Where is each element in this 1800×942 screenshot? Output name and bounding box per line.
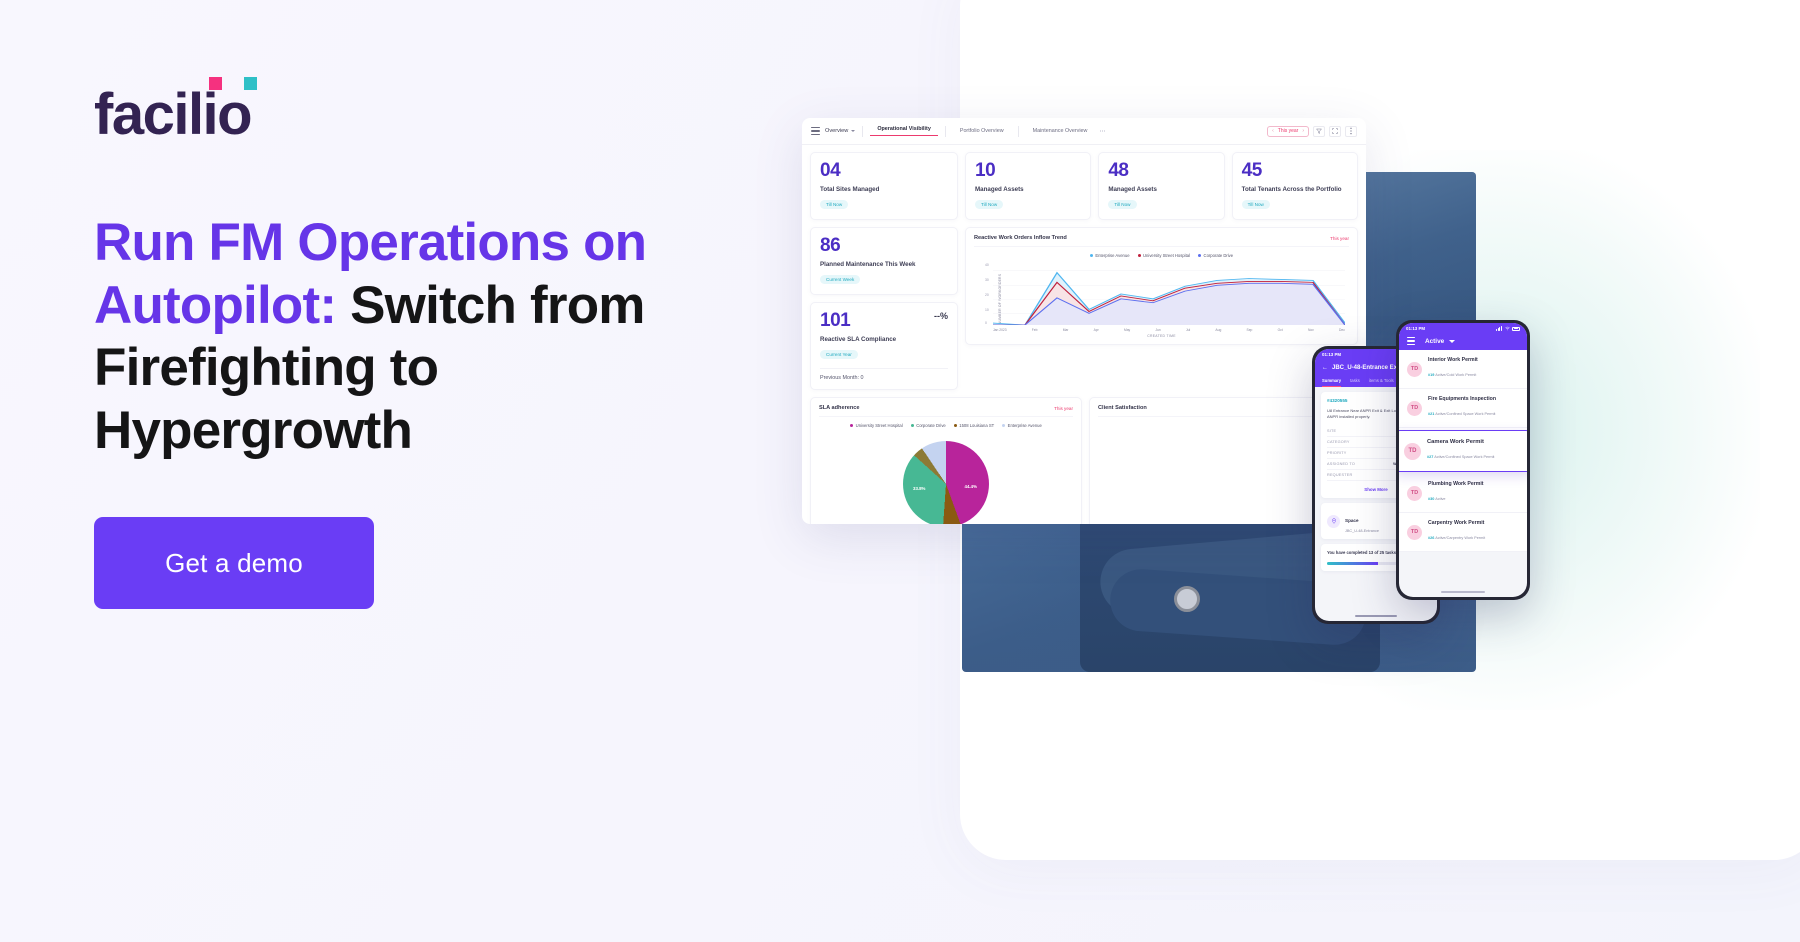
vertical-dots-icon[interactable] bbox=[1345, 126, 1357, 137]
permit-status: Active/Cold Work Permit bbox=[1435, 373, 1476, 377]
legend-item: Enterprise Avenue bbox=[1090, 253, 1130, 258]
location-pin-icon bbox=[1327, 515, 1340, 528]
chart-series-area bbox=[993, 263, 1345, 325]
chart-header: Reactive Work Orders Inflow Trend This y… bbox=[974, 235, 1349, 247]
toolbar-right-group: ‹ This year › bbox=[1267, 126, 1357, 137]
y-tick: 20 bbox=[985, 293, 989, 297]
permit-toolbar: Active bbox=[1399, 334, 1527, 350]
status-time: 01:13 PM bbox=[1322, 352, 1341, 357]
x-tick: Dec bbox=[1339, 328, 1345, 332]
list-item-text: Plumbing Work Permit #30 Active bbox=[1428, 481, 1484, 505]
get-a-demo-button[interactable]: Get a demo bbox=[94, 517, 374, 609]
list-item-text: Camera Work Permit #27 Active/Confined S… bbox=[1427, 439, 1495, 463]
dashboard-body: 04 Total Sites Managed Till Now 86 Plann… bbox=[802, 145, 1366, 397]
photo-wristwatch bbox=[1174, 586, 1200, 612]
pie-chart-area: 44.4% 33.8% bbox=[819, 428, 1073, 524]
dashboard-window: Overview Operational Visibility Portfoli… bbox=[802, 118, 1366, 524]
kpi-value-row: 101 --% bbox=[820, 311, 948, 330]
back-arrow-icon[interactable]: ← bbox=[1322, 364, 1328, 372]
x-axis-labels: Jan 2023 Feb Mar Apr May Jun Jul Aug Sep… bbox=[993, 328, 1345, 332]
permit-list: TD Interior Work Permit #19 Active/Cold … bbox=[1399, 350, 1527, 552]
battery-icon bbox=[1512, 327, 1520, 331]
list-item-text: Interior Work Permit #19 Active/Cold Wor… bbox=[1428, 357, 1478, 381]
field-key: CATEGORY bbox=[1327, 440, 1350, 444]
tab-summary[interactable]: Summary bbox=[1322, 378, 1341, 387]
kpi-label: Total Tenants Across the Portfolio bbox=[1242, 186, 1348, 193]
page-title: Run FM Operations on Autopilot: Switch f… bbox=[94, 212, 654, 462]
x-tick: Jun bbox=[1155, 328, 1160, 332]
legend-swatch bbox=[954, 424, 957, 427]
overview-dropdown[interactable]: Overview bbox=[825, 128, 855, 134]
kpi-card-total-tenants[interactable]: 45 Total Tenants Across the Portfolio Ti… bbox=[1232, 152, 1358, 220]
legend-label: University Street Hospital bbox=[1143, 253, 1190, 258]
permit-id: #27 bbox=[1427, 455, 1433, 459]
x-tick: May bbox=[1124, 328, 1130, 332]
funnel-icon[interactable] bbox=[1313, 126, 1325, 137]
chart-legend: Enterprise Avenue University Street Hosp… bbox=[974, 253, 1349, 258]
permit-title: Plumbing Work Permit bbox=[1428, 481, 1484, 487]
list-item-text: Fire Equipments Inspection #21 Active/Co… bbox=[1428, 396, 1496, 420]
field-key: SITE bbox=[1327, 429, 1336, 433]
kpi-card-total-sites[interactable]: 04 Total Sites Managed Till Now bbox=[810, 152, 958, 220]
y-tick: 0 bbox=[985, 321, 987, 325]
reactive-work-orders-chart[interactable]: Reactive Work Orders Inflow Trend This y… bbox=[965, 227, 1358, 345]
kpi-badge: Till Now bbox=[975, 200, 1003, 209]
avatar: TD bbox=[1407, 362, 1422, 377]
x-tick: Nov bbox=[1308, 328, 1314, 332]
kpi-percent: --% bbox=[934, 311, 948, 321]
status-bar: 01:13 PM bbox=[1399, 323, 1527, 334]
signal-icon bbox=[1496, 326, 1502, 331]
hamburger-icon[interactable] bbox=[811, 127, 820, 135]
sla-adherence-chart[interactable]: SLA adherence This year University Stree… bbox=[810, 397, 1082, 524]
dashboard-left-column: 04 Total Sites Managed Till Now 86 Plann… bbox=[810, 152, 958, 390]
x-tick: Aug bbox=[1215, 328, 1221, 332]
avatar: TD bbox=[1407, 486, 1422, 501]
x-axis-label: CREATED TIME bbox=[974, 334, 1349, 338]
permit-id: #19 bbox=[1428, 373, 1434, 377]
permit-id: #26 bbox=[1428, 536, 1434, 540]
field-key: REQUESTER bbox=[1327, 473, 1352, 477]
logo-wordmark: facilio bbox=[94, 86, 251, 144]
tab-portfolio-overview[interactable]: Portfolio Overview bbox=[953, 128, 1011, 134]
hamburger-icon[interactable] bbox=[1407, 337, 1415, 345]
kpi-label: Managed Assets bbox=[975, 186, 1081, 193]
chart-title: SLA adherence bbox=[819, 405, 860, 411]
legend-swatch bbox=[1198, 254, 1201, 257]
dashboard-toolbar: Overview Operational Visibility Portfoli… bbox=[802, 118, 1366, 145]
logo-teal-square-icon bbox=[244, 77, 257, 90]
dashboard-lower-body: SLA adherence This year University Stree… bbox=[802, 397, 1366, 524]
permit-id: #30 bbox=[1428, 497, 1434, 501]
kpi-badge: Till Now bbox=[820, 200, 848, 209]
kpi-badge: Till Now bbox=[1108, 200, 1136, 209]
pie-chart: 44.4% 33.8% bbox=[903, 441, 989, 524]
permit-meta: #30 Active bbox=[1428, 497, 1446, 501]
kpi-value: 04 bbox=[820, 161, 948, 180]
avatar: TD bbox=[1407, 525, 1422, 540]
chart-range-label[interactable]: This year bbox=[1330, 236, 1349, 241]
field-key: PRIORITY bbox=[1327, 451, 1347, 455]
mobile-permit-list: 01:13 PM Active TD Interior Work Permit … bbox=[1396, 320, 1530, 600]
field-key: ASSIGNED TO bbox=[1327, 462, 1355, 466]
chevron-down-icon[interactable] bbox=[1449, 340, 1455, 343]
divider bbox=[862, 126, 863, 137]
space-card-text: Space JBC_U-48-Entrance bbox=[1345, 509, 1379, 533]
tab-operational-visibility[interactable]: Operational Visibility bbox=[870, 126, 938, 136]
facilio-logo[interactable]: facilio bbox=[94, 84, 251, 144]
avatar: TD bbox=[1404, 443, 1421, 460]
avatar: TD bbox=[1407, 401, 1422, 416]
kpi-badge: Till Now bbox=[1242, 200, 1270, 209]
kpi-value: 101 bbox=[820, 311, 850, 330]
permit-status: Active/Carpentry Work Permit bbox=[1435, 536, 1485, 540]
list-item-selected[interactable]: TD Camera Work Permit #27 Active/Confine… bbox=[1399, 430, 1527, 472]
legend-swatch bbox=[1138, 254, 1141, 257]
kpi-value: 45 bbox=[1242, 161, 1348, 180]
permit-filter-row[interactable]: Active bbox=[1399, 334, 1527, 345]
list-item[interactable]: TD Plumbing Work Permit #30 Active bbox=[1399, 474, 1527, 513]
overview-label: Overview bbox=[825, 128, 848, 134]
x-tick: Jan 2023 bbox=[993, 328, 1007, 332]
list-item[interactable]: TD Interior Work Permit #19 Active/Cold … bbox=[1399, 350, 1527, 389]
legend-swatch bbox=[1090, 254, 1093, 257]
kpi-label: Managed Assets bbox=[1108, 186, 1214, 193]
x-tick: Oct bbox=[1278, 328, 1283, 332]
list-item[interactable]: TD Fire Equipments Inspection #21 Active… bbox=[1399, 389, 1527, 428]
x-tick: Apr bbox=[1094, 328, 1099, 332]
kpi-value: 48 bbox=[1108, 161, 1214, 180]
legend-swatch bbox=[911, 424, 914, 427]
y-tick: 30 bbox=[985, 278, 989, 282]
home-indicator bbox=[1441, 591, 1485, 593]
permit-id: #21 bbox=[1428, 412, 1434, 416]
expand-icon[interactable] bbox=[1329, 126, 1341, 137]
permit-title: Camera Work Permit bbox=[1427, 439, 1495, 445]
kpi-card-planned-maintenance[interactable]: 86 Planned Maintenance This Week Current… bbox=[810, 227, 958, 295]
legend-item: University Street Hospital bbox=[1138, 253, 1191, 258]
date-range-selector[interactable]: ‹ This year › bbox=[1267, 126, 1309, 137]
kpi-label: Total Sites Managed bbox=[820, 186, 948, 193]
permit-meta: #27 Active/Confined Space Work Permit bbox=[1427, 455, 1495, 459]
permit-meta: #26 Active/Carpentry Work Permit bbox=[1428, 536, 1485, 540]
kpi-label: Planned Maintenance This Week bbox=[820, 261, 948, 268]
kpi-label: Reactive SLA Compliance bbox=[820, 336, 948, 343]
kpi-badge: Current Week bbox=[820, 275, 860, 284]
chart-header: SLA adherence This year bbox=[819, 405, 1073, 417]
permit-meta: #19 Active/Cold Work Permit bbox=[1428, 373, 1476, 377]
kpi-previous-month: Previous Month: 0 bbox=[820, 368, 948, 381]
kpi-value: 10 bbox=[975, 161, 1081, 180]
y-tick: 10 bbox=[985, 308, 989, 312]
status-time: 01:13 PM bbox=[1406, 326, 1425, 331]
kpi-card-managed-assets-10[interactable]: 10 Managed Assets Till Now bbox=[965, 152, 1091, 220]
hero-left-column: facilio Run FM Operations on Autopilot: … bbox=[94, 0, 714, 942]
next-period-icon[interactable]: › bbox=[1302, 128, 1304, 134]
kpi-card-managed-assets-48[interactable]: 48 Managed Assets Till Now bbox=[1098, 152, 1224, 220]
permit-filter-label: Active bbox=[1425, 338, 1444, 345]
kpi-value: 86 bbox=[820, 236, 948, 255]
chart-title: Reactive Work Orders Inflow Trend bbox=[974, 235, 1067, 241]
chevron-down-icon bbox=[851, 130, 855, 132]
legend-swatch bbox=[850, 424, 853, 427]
kpi-badge: Current Year bbox=[820, 350, 858, 359]
x-tick: Feb bbox=[1032, 328, 1038, 332]
permit-status: Active bbox=[1435, 497, 1445, 501]
card-title: Client Satisfaction bbox=[1098, 405, 1147, 411]
chart-range-label[interactable]: This year bbox=[1054, 406, 1073, 411]
logo-pink-square-icon bbox=[209, 77, 222, 90]
x-tick: Mar bbox=[1063, 328, 1069, 332]
kpi-card-reactive-sla[interactable]: 101 --% Reactive SLA Compliance Current … bbox=[810, 302, 958, 390]
phone-screen: 01:13 PM Active TD Interior Work Permit … bbox=[1399, 323, 1527, 597]
pie-slice-label: 33.8% bbox=[913, 486, 925, 491]
date-range-label: This year bbox=[1278, 128, 1299, 134]
line-chart-plot-area: NUMBER OF WORKORDERS 40 30 20 10 0 bbox=[974, 261, 1349, 337]
divider bbox=[1018, 126, 1019, 137]
permit-title: Interior Work Permit bbox=[1428, 357, 1478, 363]
permit-meta: #21 Active/Confined Space Work Permit bbox=[1428, 412, 1496, 416]
tab-maintenance-overview[interactable]: Maintenance Overview bbox=[1026, 128, 1095, 134]
y-tick: 40 bbox=[985, 263, 989, 267]
x-tick: Sep bbox=[1247, 328, 1253, 332]
dashboard-right-column: 10 Managed Assets Till Now 48 Managed As… bbox=[965, 152, 1358, 390]
wifi-icon bbox=[1505, 326, 1510, 331]
permit-status: Active/Confined Space Work Permit bbox=[1434, 455, 1494, 459]
pie-slice-label: 44.4% bbox=[965, 484, 977, 489]
legend-label: Enterprise Avenue bbox=[1095, 253, 1129, 258]
space-value: JBC_U-48-Entrance bbox=[1345, 529, 1379, 533]
list-item[interactable]: TD Carpentry Work Permit #26 Active/Carp… bbox=[1399, 513, 1527, 552]
legend-swatch bbox=[1002, 424, 1005, 427]
tab-tasks[interactable]: tasks bbox=[1350, 378, 1360, 387]
permit-status: Active/Confined Space Work Permit bbox=[1435, 412, 1495, 416]
divider bbox=[945, 126, 946, 137]
list-item-text: Carpentry Work Permit #26 Active/Carpent… bbox=[1428, 520, 1485, 544]
legend-label: Corporate Drive bbox=[1204, 253, 1234, 258]
more-tabs-icon[interactable]: ⋯ bbox=[1094, 128, 1106, 135]
area-chart-svg bbox=[993, 263, 1345, 325]
x-tick: Jul bbox=[1186, 328, 1190, 332]
prev-period-icon[interactable]: ‹ bbox=[1272, 128, 1274, 134]
permit-title: Fire Equipments Inspection bbox=[1428, 396, 1496, 402]
kpi-top-row: 10 Managed Assets Till Now 48 Managed As… bbox=[965, 152, 1358, 220]
status-icons bbox=[1496, 326, 1520, 331]
home-indicator bbox=[1355, 615, 1397, 617]
tab-items-tools[interactable]: items & Tools bbox=[1369, 378, 1394, 387]
space-title: Space bbox=[1345, 518, 1359, 523]
legend-item: Corporate Drive bbox=[1198, 253, 1233, 258]
permit-title: Carpentry Work Permit bbox=[1428, 520, 1485, 526]
